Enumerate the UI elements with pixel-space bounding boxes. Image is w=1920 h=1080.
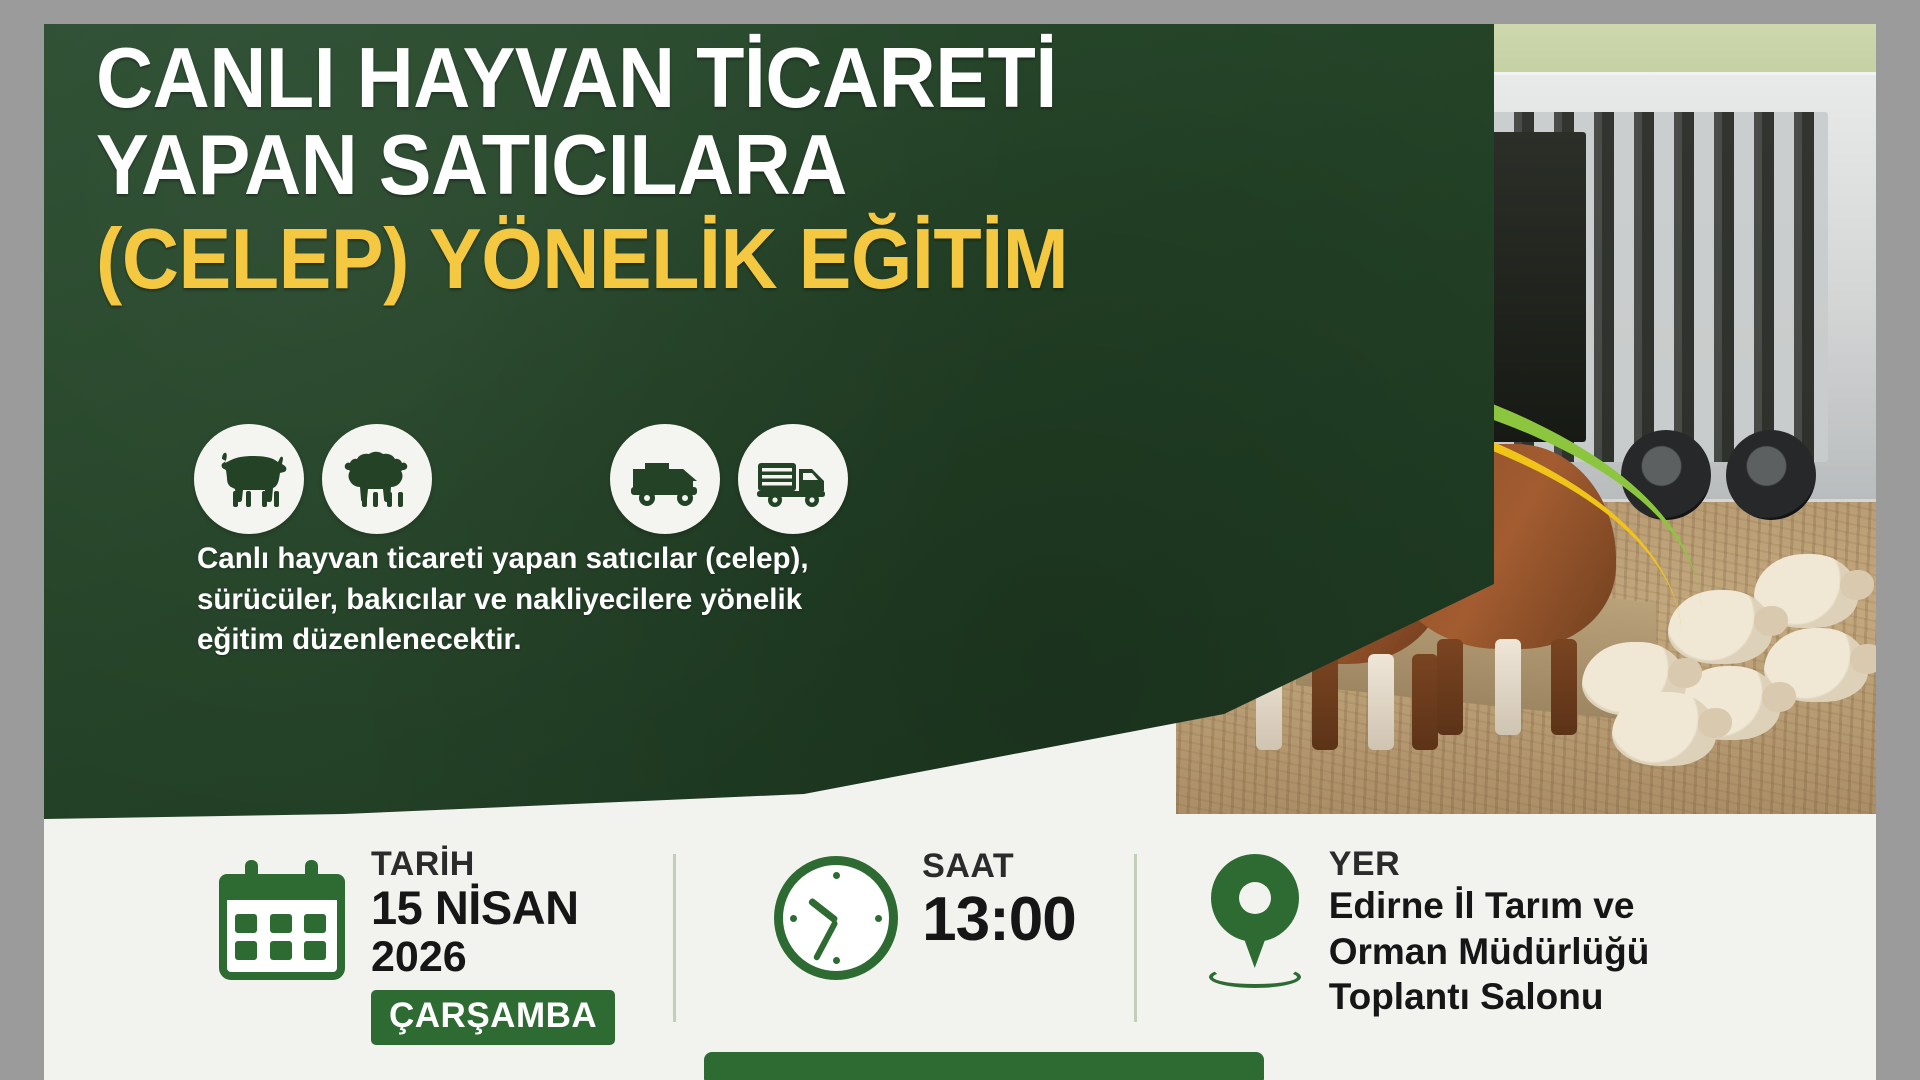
clock-minute-hand xyxy=(813,920,839,962)
clock-icon xyxy=(774,856,898,980)
sheep-icon xyxy=(322,424,432,534)
place-line-1: Edirne İl Tarım ve xyxy=(1329,883,1650,928)
info-divider xyxy=(1134,854,1137,1022)
pin-shadow xyxy=(1209,966,1301,988)
date-text-group: TARİH 15 NİSAN 2026 ÇARŞAMBA xyxy=(371,844,615,1045)
calendar-days xyxy=(235,914,331,960)
poster-info-bar: TARİH 15 NİSAN 2026 ÇARŞAMBA SAAT 13:00 xyxy=(44,822,1876,1080)
place-line-3: Toplantı Salonu xyxy=(1329,974,1650,1019)
calendar-header xyxy=(219,874,345,900)
poster-hero: CANLI HAYVAN TİCARETİ YAPAN SATICILARA (… xyxy=(44,24,1876,824)
time-value: 13:00 xyxy=(922,889,1076,951)
headline-line-1: CANLI HAYVAN TİCARETİ xyxy=(96,36,1026,123)
date-label: TARİH xyxy=(371,846,615,883)
date-year: 2026 xyxy=(371,934,615,981)
time-label: SAAT xyxy=(922,848,1076,885)
headline-accent-line: (CELEP) YÖNELİK EĞİTİM xyxy=(96,215,1026,304)
place-text-group: YER Edirne İl Tarım ve Orman Müdürlüğü T… xyxy=(1329,844,1650,1019)
calendar-icon xyxy=(219,860,345,980)
place-line-2: Orman Müdürlüğü xyxy=(1329,929,1650,974)
event-poster: CANLI HAYVAN TİCARETİ YAPAN SATICILARA (… xyxy=(44,24,1876,1080)
info-date-block: TARİH 15 NİSAN 2026 ÇARŞAMBA xyxy=(219,844,615,1045)
time-text-group: SAAT 13:00 xyxy=(922,844,1076,951)
date-weekday-badge: ÇARŞAMBA xyxy=(371,990,615,1045)
van-icon xyxy=(610,424,720,534)
bottom-green-strip xyxy=(704,1052,1264,1080)
info-place-block: YER Edirne İl Tarım ve Orman Müdürlüğü T… xyxy=(1203,844,1650,1019)
cow-icon xyxy=(194,424,304,534)
location-pin-icon xyxy=(1203,854,1307,990)
headline-line-2: YAPAN SATICILARA xyxy=(96,123,1026,210)
screenshot-root: CANLI HAYVAN TİCARETİ YAPAN SATICILARA (… xyxy=(0,0,1920,1080)
info-time-block: SAAT 13:00 xyxy=(774,844,1076,980)
poster-headline: CANLI HAYVAN TİCARETİ YAPAN SATICILARA (… xyxy=(96,36,1096,305)
poster-description: Canlı hayvan ticareti yapan satıcılar (c… xyxy=(197,539,837,661)
place-label: YER xyxy=(1329,846,1650,883)
date-value: 15 NİSAN xyxy=(371,883,615,934)
animal-transport-icon-row xyxy=(194,424,866,534)
livestock-truck-icon xyxy=(738,424,848,534)
pin-hole xyxy=(1239,882,1271,914)
pin-tail xyxy=(1236,916,1274,968)
truck-wheel xyxy=(1726,430,1816,520)
info-divider xyxy=(673,854,676,1022)
